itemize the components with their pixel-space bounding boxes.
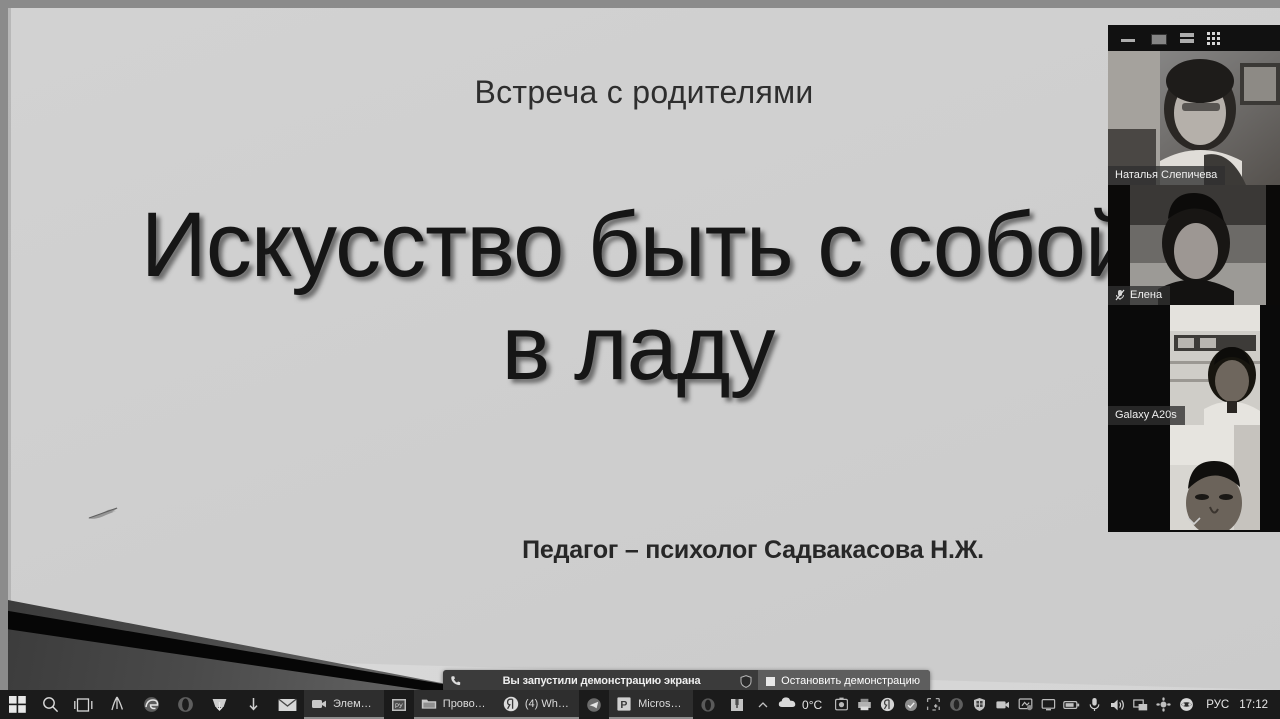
stop-sharing-label: Остановить демонстрацию	[781, 675, 920, 687]
presentation-slide[interactable]: Встреча с родителями Искусство быть с со…	[8, 8, 1280, 690]
battery-icon[interactable]	[1060, 690, 1083, 719]
taskbar-item-element[interactable]: Элемент...	[304, 690, 384, 719]
taskbar-item-label: Microsoft ...	[638, 698, 684, 710]
screen-share-icon[interactable]	[1014, 690, 1037, 719]
language-indicator[interactable]: РУС	[1198, 699, 1237, 711]
taskbar-item-explorer[interactable]: Проводник	[414, 690, 496, 719]
tray-overflow-button[interactable]	[752, 690, 774, 719]
opera-tray-icon[interactable]	[945, 690, 968, 719]
weather-widget[interactable]: 0°C	[774, 695, 830, 714]
taskbar-item-label: Элемент...	[333, 698, 375, 710]
taskbar-item-powerpoint[interactable]: P Microsoft ...	[609, 690, 693, 719]
microphone-muted-icon	[1115, 289, 1125, 301]
svg-text:P: P	[621, 699, 628, 711]
scribble-decoration	[86, 506, 122, 522]
windows-taskbar: Элемент... РУ Проводник	[0, 690, 1280, 719]
shield-icon[interactable]	[734, 675, 758, 688]
download-manager-icon[interactable]	[202, 690, 236, 719]
settings-icon[interactable]	[1152, 690, 1175, 719]
camera-icon[interactable]	[830, 690, 853, 719]
system-tray: 0°C	[752, 690, 1280, 719]
minimize-icon[interactable]	[1120, 31, 1138, 45]
taskbar-item-opera-gx[interactable]	[693, 690, 723, 719]
participant-tile[interactable]: Galaxy A20s	[1108, 305, 1280, 425]
opera-gx-icon	[700, 697, 716, 713]
screen-share-message: Вы запустили демонстрацию экрана	[469, 675, 734, 687]
list-view-icon[interactable]	[1178, 31, 1196, 45]
video-app-icon	[311, 696, 327, 712]
participant-name-badge: Наталья Слепичева	[1108, 166, 1225, 185]
participant-name-badge: Galaxy A20s	[1108, 406, 1185, 425]
stop-square-icon	[766, 677, 775, 686]
mail-icon[interactable]	[270, 690, 304, 719]
slide-decoration-dark	[8, 600, 478, 690]
presentation-frame: Встреча с родителями Искусство быть с со…	[0, 0, 1280, 690]
eye-comfort-icon[interactable]	[1175, 690, 1198, 719]
check-icon[interactable]	[899, 690, 922, 719]
taskbar-item-label: (4) Whats...	[525, 698, 571, 710]
taskbar-item-whatsapp[interactable]: (4) Whats...	[496, 690, 580, 719]
chevron-down-icon	[1186, 516, 1202, 526]
taskbar-item-telegram[interactable]	[579, 690, 609, 719]
yandex-icon[interactable]	[876, 690, 899, 719]
network-icon[interactable]	[1129, 690, 1152, 719]
video-panel-toolbar	[1108, 25, 1280, 51]
stop-sharing-button[interactable]: Остановить демонстрацию	[758, 670, 930, 692]
clock[interactable]: 17:12	[1237, 699, 1276, 711]
participant-name: Наталья Слепичева	[1115, 168, 1217, 182]
participant-video	[1108, 51, 1280, 185]
volume-icon[interactable]	[1106, 690, 1129, 719]
taskbar-item-label: Проводник	[443, 698, 487, 710]
snip-icon[interactable]	[922, 690, 945, 719]
download-arrow-icon[interactable]	[236, 690, 270, 719]
screen-root: Встреча с родителями Искусство быть с со…	[0, 0, 1280, 719]
display-icon[interactable]	[1037, 690, 1060, 719]
archive-icon	[729, 697, 745, 713]
video-conference-panel[interactable]: Наталья Слепичева	[1108, 25, 1280, 532]
explorer-icon	[421, 696, 437, 712]
participant-name-badge: Елена	[1108, 286, 1170, 305]
participant-tile[interactable]: Елена	[1108, 185, 1280, 305]
task-view-icon[interactable]	[67, 690, 100, 719]
yandex-browser-icon	[503, 696, 519, 712]
powerpoint-icon: P	[616, 696, 632, 712]
slide-heading: Встреча с родителями	[8, 74, 1280, 111]
video-tray-icon[interactable]	[991, 690, 1014, 719]
taskbar-item-archive[interactable]	[722, 690, 752, 719]
participant-name: Елена	[1130, 288, 1162, 302]
slide-title: Искусство быть с собой в ладу	[138, 194, 1138, 400]
cloud-icon	[778, 695, 797, 714]
opera-icon[interactable]	[168, 690, 202, 719]
printer-icon[interactable]	[853, 690, 876, 719]
windows-security-icon[interactable]	[968, 690, 991, 719]
weather-temperature: 0°C	[802, 698, 822, 712]
svg-text:РУ: РУ	[395, 704, 403, 710]
photos-icon: РУ	[391, 697, 407, 713]
participant-name: Galaxy A20s	[1115, 408, 1177, 422]
scroll-down-button[interactable]	[1108, 510, 1280, 532]
screen-share-bar: Вы запустили демонстрацию экрана Останов…	[443, 670, 930, 692]
slide-decoration-black	[8, 598, 478, 690]
participant-tile[interactable]: Наталья Слепичева	[1108, 51, 1280, 185]
telegram-icon	[586, 697, 602, 713]
taskbar-item-photos[interactable]: РУ	[384, 690, 414, 719]
microphone-icon[interactable]	[1083, 690, 1106, 719]
phone-icon[interactable]	[443, 675, 469, 687]
window-view-icon[interactable]	[1149, 31, 1167, 45]
acrobat-icon[interactable]	[100, 690, 134, 719]
edge-legacy-icon[interactable]	[134, 690, 168, 719]
grid-view-icon[interactable]	[1207, 32, 1220, 45]
slide-author: Педагог – психолог Садвакасова Н.Ж.	[328, 536, 1178, 565]
search-icon[interactable]	[34, 690, 67, 719]
windows-start-icon[interactable]	[0, 690, 34, 719]
